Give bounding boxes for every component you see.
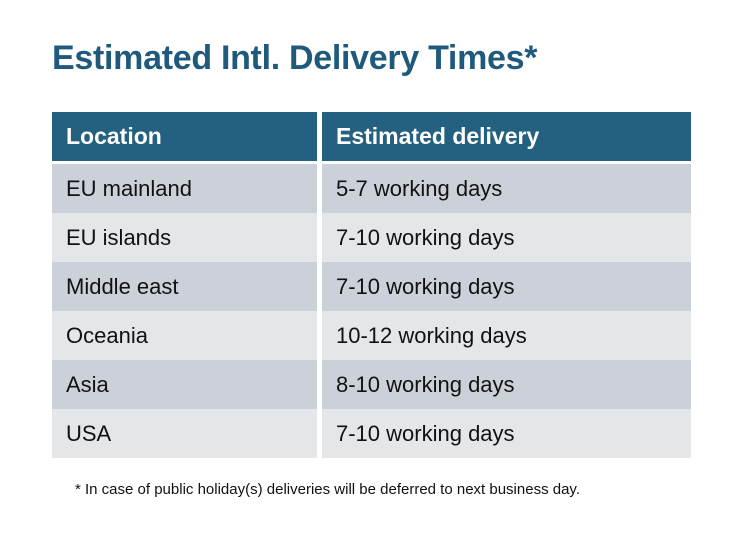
table-header-row: Location Estimated delivery <box>52 112 691 161</box>
cell-delivery: 7-10 working days <box>322 262 691 311</box>
page-title: Estimated Intl. Delivery Times* <box>52 36 537 80</box>
column-header-estimated-delivery: Estimated delivery <box>322 112 691 161</box>
cell-location: Oceania <box>52 311 317 360</box>
cell-location: EU islands <box>52 213 317 262</box>
cell-location: USA <box>52 409 317 458</box>
cell-location: EU mainland <box>52 164 317 213</box>
footnote-text: * In case of public holiday(s) deliverie… <box>75 479 580 501</box>
delivery-times-table: Location Estimated delivery EU mainland … <box>52 112 691 458</box>
cell-delivery: 7-10 working days <box>322 409 691 458</box>
cell-delivery: 8-10 working days <box>322 360 691 409</box>
cell-delivery: 5-7 working days <box>322 164 691 213</box>
cell-delivery: 10-12 working days <box>322 311 691 360</box>
table-row: EU islands 7-10 working days <box>52 213 691 262</box>
table-row: Middle east 7-10 working days <box>52 262 691 311</box>
cell-location: Asia <box>52 360 317 409</box>
delivery-times-page: Estimated Intl. Delivery Times* Location… <box>0 0 745 536</box>
table-row: EU mainland 5-7 working days <box>52 164 691 213</box>
table-row: Oceania 10-12 working days <box>52 311 691 360</box>
cell-delivery: 7-10 working days <box>322 213 691 262</box>
table-row: USA 7-10 working days <box>52 409 691 458</box>
cell-location: Middle east <box>52 262 317 311</box>
table-row: Asia 8-10 working days <box>52 360 691 409</box>
column-header-location: Location <box>52 112 317 161</box>
